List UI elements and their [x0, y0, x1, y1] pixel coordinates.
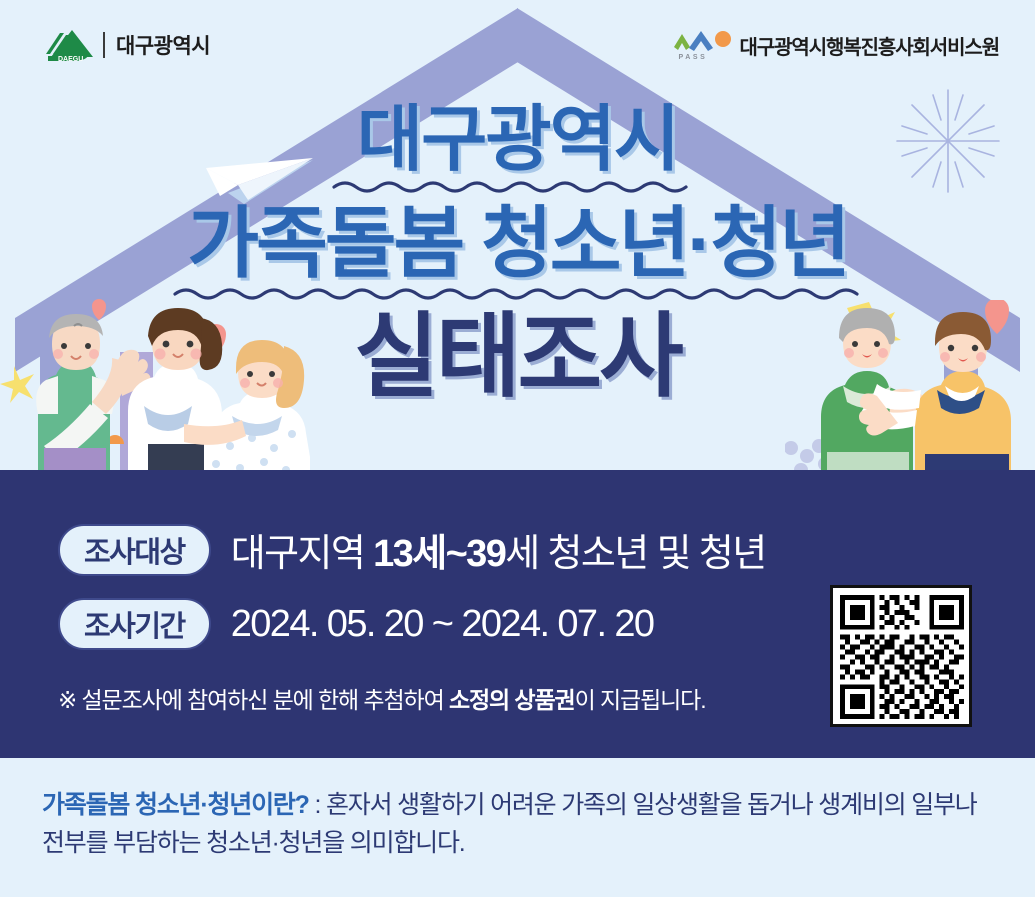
survey-target-row: 조사대상 대구지역 13세~39세 청소년 및 청년	[58, 522, 766, 577]
title-wave-2	[173, 285, 863, 303]
title-wave-1	[332, 178, 704, 196]
poster-header: DAEGU 대구광역시 PASS 대구광역시행복진흥사회서비스원	[0, 0, 1035, 78]
survey-period-value: 2024. 05. 20 ~ 2024. 07. 20	[231, 603, 654, 646]
logo-divider	[103, 32, 105, 58]
daegu-mountain-logo-icon: DAEGU	[42, 28, 94, 62]
pass-logo-label: 대구광역시행복진흥사회서비스원	[740, 31, 1000, 60]
survey-period-pill: 조사기간	[58, 598, 211, 650]
target-value-prefix: 대구지역	[231, 533, 373, 575]
poster-title: 대구광역시 가족돌봄 청소년·청년 실태조사	[0, 104, 1035, 403]
footer-definition: 가족돌봄 청소년·청년이란? : 혼자서 생활하기 어려운 가족의 일상생활을 …	[42, 786, 1002, 862]
pass-wordmark: PASS	[679, 54, 708, 61]
qr-code-image	[840, 595, 964, 719]
daegu-logo-label: 대구광역시	[116, 30, 210, 60]
note-strong: 소정의 상품권	[449, 687, 575, 713]
footer-question: 가족돌봄 청소년·청년이란?	[42, 791, 309, 819]
pass-logo: PASS 대구광역시행복진흥사회서비스원	[673, 30, 1000, 60]
daegu-logo: DAEGU 대구광역시	[42, 28, 210, 62]
svg-text:DAEGU: DAEGU	[58, 56, 83, 62]
title-line-3: 실태조사	[0, 311, 1035, 403]
note-prefix: ※ 설문조사에 참여하신 분에 한해 추첨하여	[58, 687, 449, 713]
survey-note: ※ 설문조사에 참여하신 분에 한해 추첨하여 소정의 상품권이 지급됩니다.	[58, 681, 706, 715]
title-line-1: 대구광역시	[0, 104, 1035, 176]
survey-target-pill: 조사대상	[58, 524, 211, 576]
qr-code[interactable]	[830, 585, 972, 727]
title-line-2: 가족돌봄 청소년·청년	[0, 204, 1035, 282]
note-suffix: 이 지급됩니다.	[575, 687, 706, 713]
survey-period-row: 조사기간 2024. 05. 20 ~ 2024. 07. 20	[58, 598, 653, 650]
target-value-strong: 13세~39	[373, 533, 505, 575]
pass-chevron-logo-icon: PASS	[673, 30, 731, 60]
target-value-suffix: 세 청소년 및 청년	[505, 533, 765, 575]
poster-root: DAEGU 대구광역시 PASS 대구광역시행복진흥사회서비스원	[0, 0, 1035, 897]
survey-target-value: 대구지역 13세~39세 청소년 및 청년	[231, 522, 766, 577]
